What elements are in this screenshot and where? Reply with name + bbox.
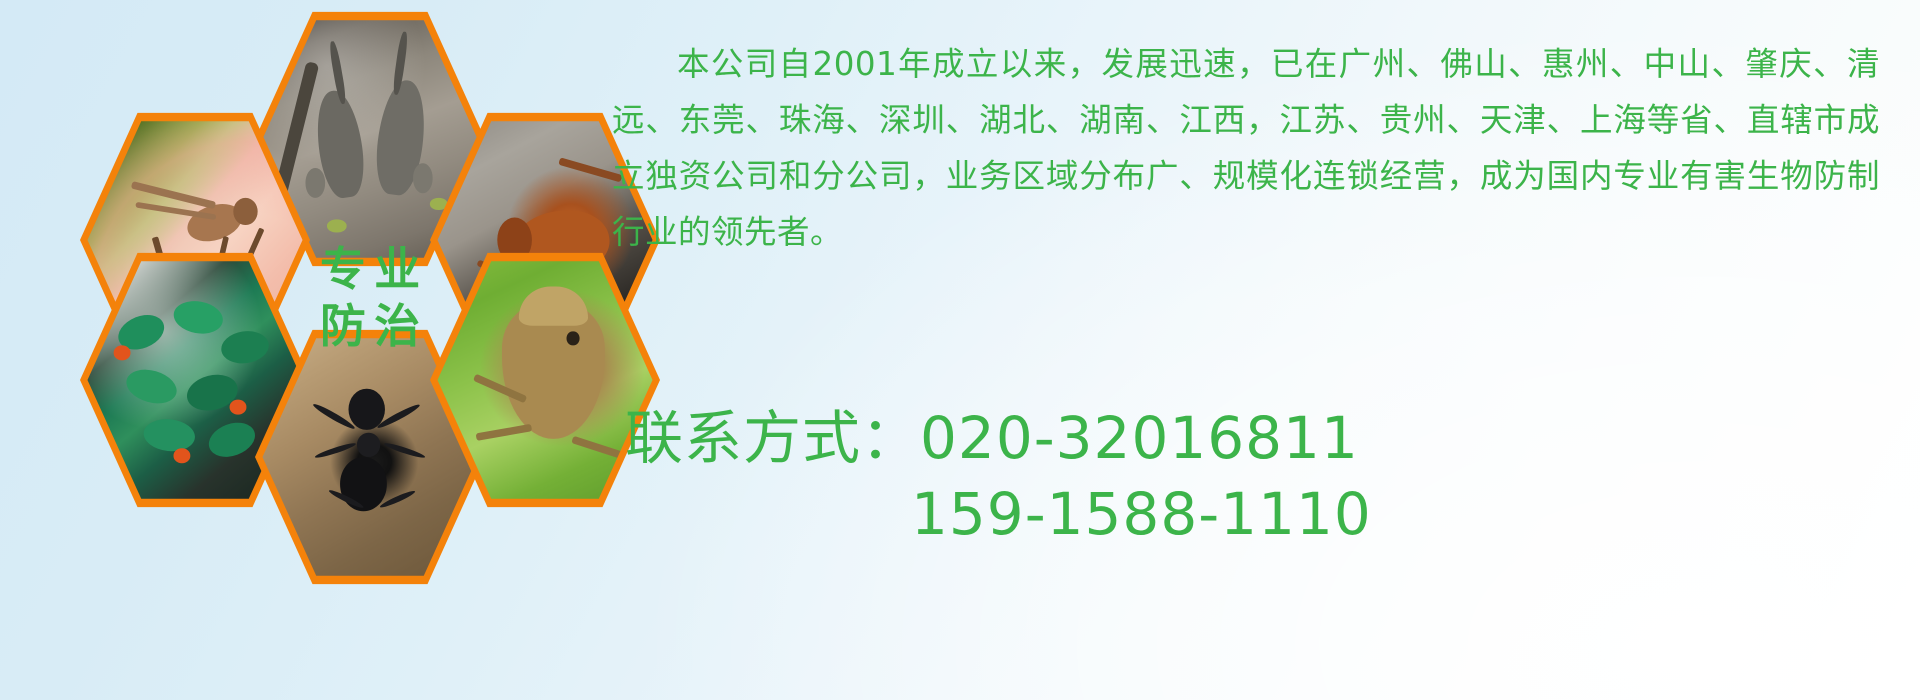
promo-banner: 专业 防治 本公司自2001年成立以来，发展迅速，已在广州、佛山、惠州、中山、肇…	[0, 0, 1920, 700]
about-paragraph: 本公司自2001年成立以来，发展迅速，已在广州、佛山、惠州、中山、肇庆、清远、东…	[612, 36, 1880, 260]
hexagon-photo-collage: 专业 防治	[80, 0, 600, 558]
contact-line-landline: 联系方式：020-32016811	[625, 400, 1725, 476]
contact-line-mobile: 159-1588-1110	[625, 476, 1725, 552]
center-label-line-1: 专业	[312, 245, 429, 293]
about-text-block: 本公司自2001年成立以来，发展迅速，已在广州、佛山、惠州、中山、肇庆、清远、东…	[612, 36, 1880, 260]
contact-phone-landline[interactable]: 020-32016811	[920, 404, 1359, 472]
contact-block: 联系方式：020-32016811 159-1588-1110	[625, 400, 1725, 552]
contact-label: 联系方式：	[625, 404, 920, 472]
contact-phone-mobile[interactable]: 159-1588-1110	[911, 480, 1372, 548]
center-label-line-2: 防治	[312, 303, 429, 351]
